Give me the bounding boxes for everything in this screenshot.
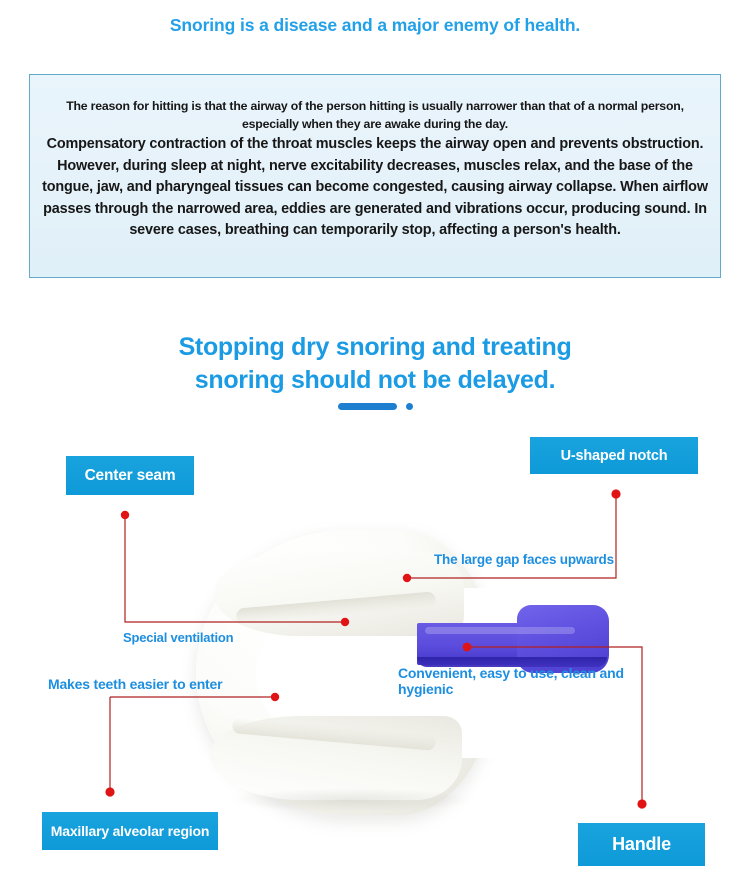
pagination-active-indicator[interactable] <box>338 403 397 410</box>
callout-dot-handle <box>637 799 646 808</box>
callout-dot-u-shaped-notch <box>611 489 620 498</box>
product-diagram: Center seam U-shaped notch Maxillary alv… <box>0 420 750 876</box>
callout-badge-handle[interactable]: Handle <box>578 823 705 866</box>
callout-dot-center-seam <box>121 511 129 519</box>
page-title: Snoring is a disease and a major enemy o… <box>0 15 750 36</box>
callout-label-makes-teeth-easier: Makes teeth easier to enter <box>48 676 222 692</box>
section-subtitle-line2: snoring should not be delayed. <box>0 364 750 397</box>
section-subtitle-line1: Stopping dry snoring and treating <box>0 331 750 364</box>
callout-dot-convenient <box>463 643 472 652</box>
callout-dot-maxillary <box>105 787 114 796</box>
info-box-body: Compensatory contraction of the throat m… <box>40 134 710 242</box>
callout-badge-u-shaped-notch[interactable]: U-shaped notch <box>530 437 698 474</box>
section-subtitle: Stopping dry snoring and treating snorin… <box>0 331 750 397</box>
callout-dot-makes-teeth-easier <box>271 693 279 701</box>
callout-dot-large-gap <box>403 574 411 582</box>
pagination-dot-2[interactable] <box>406 403 413 410</box>
callout-label-special-ventilation: Special ventilation <box>123 630 233 646</box>
callout-label-large-gap-upwards: The large gap faces upwards <box>434 552 614 568</box>
info-box: The reason for hitting is that the airwa… <box>29 74 721 278</box>
callout-badge-maxillary-alveolar-region[interactable]: Maxillary alveolar region <box>42 812 218 850</box>
callout-badge-center-seam[interactable]: Center seam <box>66 456 194 495</box>
callout-label-convenient: Convenient, easy to use, clean and hygie… <box>398 665 638 697</box>
callout-dot-special-ventilation <box>341 618 349 626</box>
carousel-pagination[interactable] <box>0 403 750 410</box>
info-box-lead: The reason for hitting is that the airwa… <box>40 97 710 133</box>
